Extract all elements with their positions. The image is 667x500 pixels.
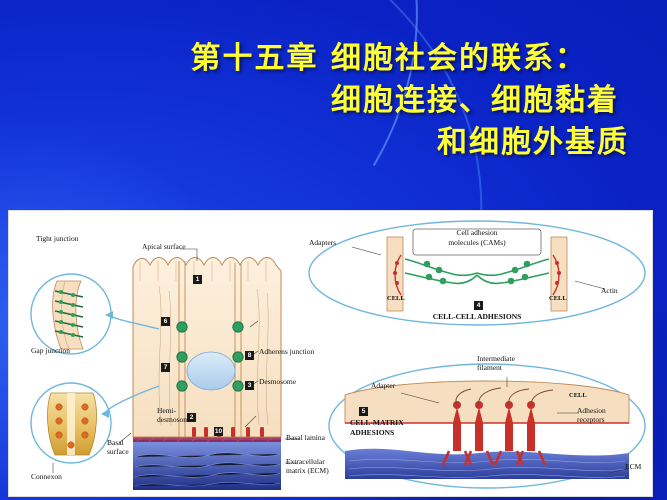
badge-6: 6: [161, 317, 170, 326]
label-adherens-junction: Adherens junction: [259, 348, 314, 356]
slide-title: 第十五章 细胞社会的联系： 细胞连接、细胞黏着 和细胞外基质: [0, 38, 667, 164]
label-hemidesmosome-line1: Hemi-: [157, 407, 176, 415]
label-actin: Actin: [601, 287, 618, 295]
caption-cell-matrix-line1: CELL-MATRIX: [350, 419, 404, 427]
figure-svg: [9, 211, 652, 496]
label-adhesion-receptors-line1: Adhesion: [577, 407, 606, 415]
caption-cell-matrix-line2: ADHESIONS: [350, 429, 394, 437]
label-desmosome: Desmosome: [259, 378, 296, 386]
label-connexon: Connexon: [31, 473, 62, 481]
label-cam-line1: Cell adhesion: [421, 229, 533, 237]
center-epithelium-group: [119, 249, 299, 490]
label-cam-line2: molecules (CAMs): [413, 239, 541, 247]
title-line-3: 和细胞外基质: [0, 122, 629, 164]
slide-root: 第十五章 细胞社会的联系： 细胞连接、细胞黏着 和细胞外基质: [0, 0, 667, 500]
title-line-2: 细胞连接、细胞黏着: [0, 80, 629, 122]
label-apical-surface: Apical surface: [142, 243, 186, 251]
badge-3: 3: [245, 381, 254, 390]
label-cell-left: CELL: [387, 296, 405, 303]
badge-4: 4: [474, 301, 483, 310]
label-cell-matrix-cell: CELL: [569, 393, 587, 400]
badge-2: 2: [187, 413, 196, 422]
label-cell-right: CELL: [549, 296, 567, 303]
caption-cell-cell-adhesions: CELL-CELL ADHESIONS: [407, 313, 547, 321]
figure-cell-junctions-diagram: Tight junction Gap junction Connexon Api…: [8, 210, 653, 497]
label-basal-surface-line1: Basal: [107, 439, 124, 447]
label-intermediate-filament-line1: Intermediate: [477, 355, 515, 363]
badge-1: 1: [193, 275, 202, 284]
label-tight-junction: Tight junction: [36, 235, 78, 243]
label-intermediate-filament-line2: filament: [477, 364, 502, 372]
badge-7: 7: [161, 363, 170, 372]
badge-10: 10: [214, 427, 223, 436]
label-ecm-bottom-right: ECM: [625, 463, 641, 471]
badge-5: 5: [359, 407, 368, 416]
label-adapters: Adapters: [309, 239, 336, 247]
label-ecm-line1: Extracellular: [286, 458, 325, 466]
label-basal-surface-line2: surface: [107, 448, 129, 456]
label-gap-junction: Gap junction: [31, 347, 70, 355]
label-adapter: Adapter: [371, 382, 395, 390]
label-adhesion-receptors-line2: receptors: [577, 416, 604, 424]
label-basal-lamina: Basal lamina: [286, 434, 325, 442]
label-ecm-line2: matrix (ECM): [286, 467, 329, 475]
title-line-1: 第十五章 细胞社会的联系：: [0, 38, 629, 80]
badge-8: 8: [245, 351, 254, 360]
